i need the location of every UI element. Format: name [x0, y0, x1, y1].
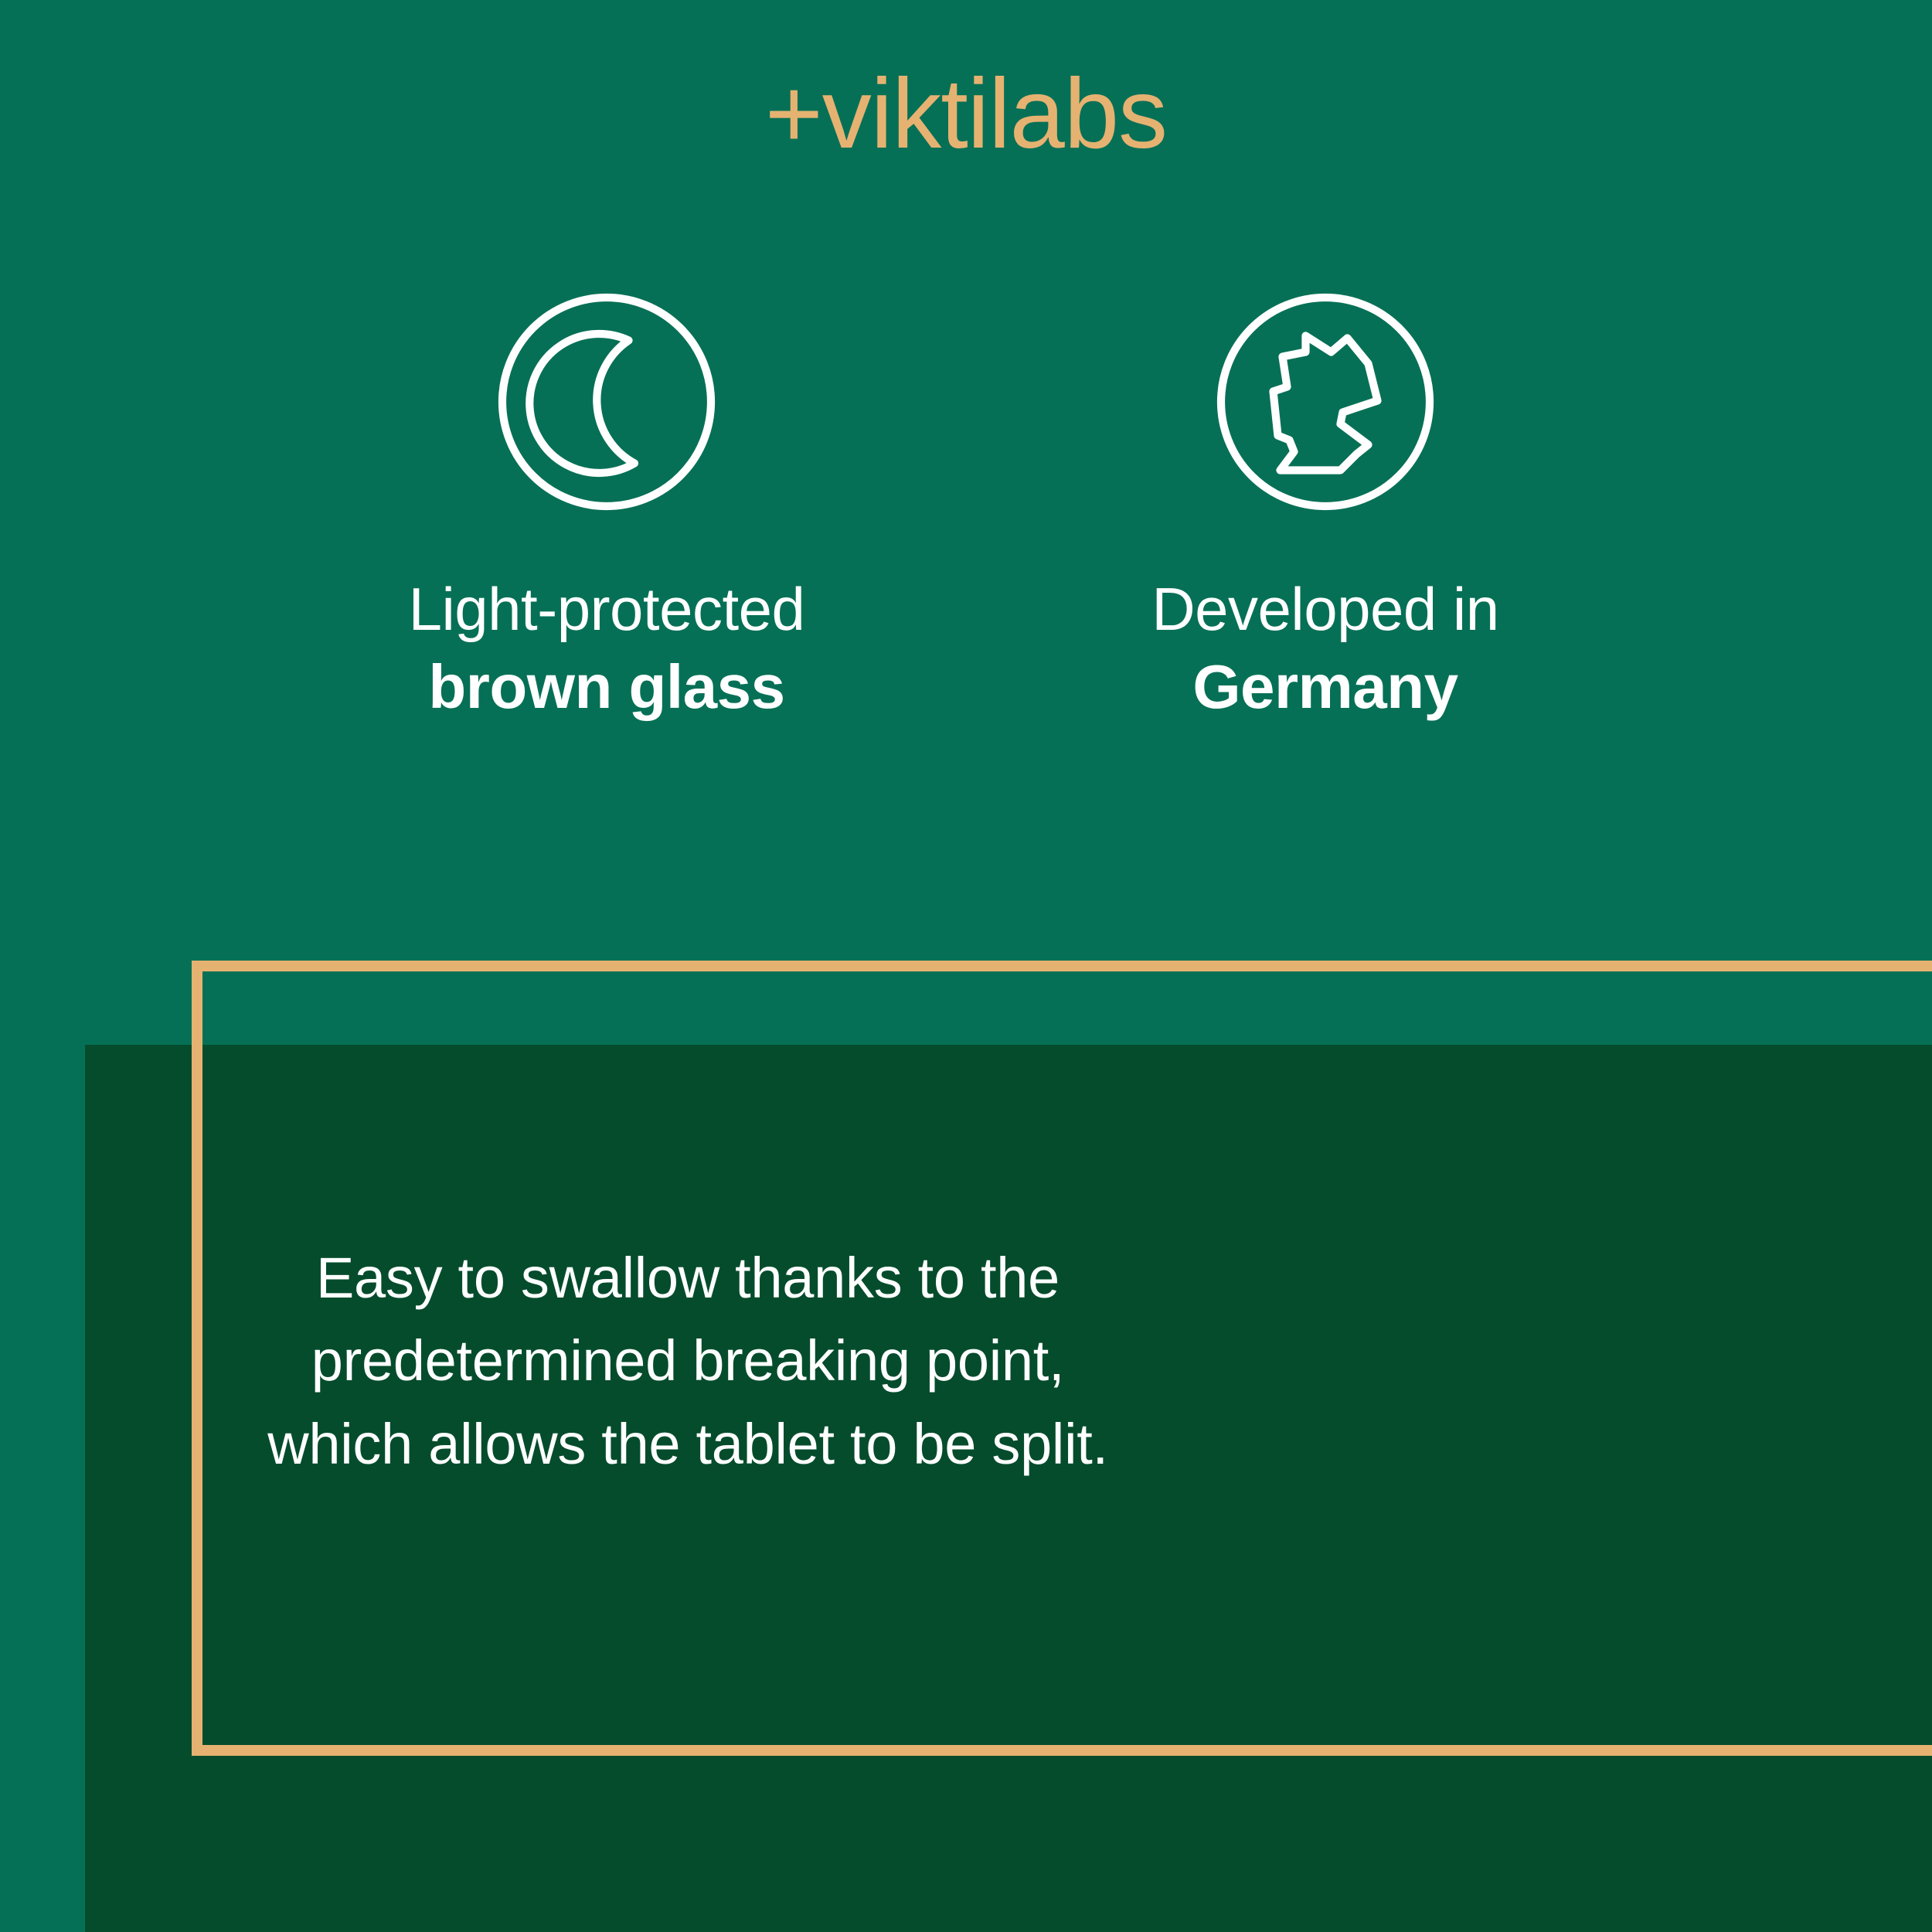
panel-body-text: Easy to swallow thanks to the predetermi…: [232, 1236, 1144, 1485]
promo-graphic-canvas: +viktilabs Light-protected brown glass D…: [0, 0, 1932, 1932]
feature-caption-line2: Germany: [1151, 651, 1498, 723]
brand-logo: +viktilabs: [0, 60, 1932, 169]
feature-caption-light-protected: Light-protected brown glass: [409, 573, 805, 723]
panel-left-margin: [0, 1045, 85, 1932]
germany-map-in-circle-icon: [1209, 286, 1441, 518]
feature-caption-line1: Light-protected: [409, 573, 805, 645]
feature-light-protected: Light-protected brown glass: [290, 286, 923, 723]
crescent-moon-in-circle-icon: [491, 286, 723, 518]
feature-row: Light-protected brown glass Developed in…: [0, 286, 1932, 723]
product-photo: [85, 1045, 1932, 1932]
feature-caption-line2: brown glass: [409, 651, 805, 723]
feature-developed-in-germany: Developed in Germany: [1009, 286, 1642, 723]
feature-caption-line1: Developed in: [1151, 573, 1498, 645]
feature-caption-developed-in-germany: Developed in Germany: [1151, 573, 1498, 723]
